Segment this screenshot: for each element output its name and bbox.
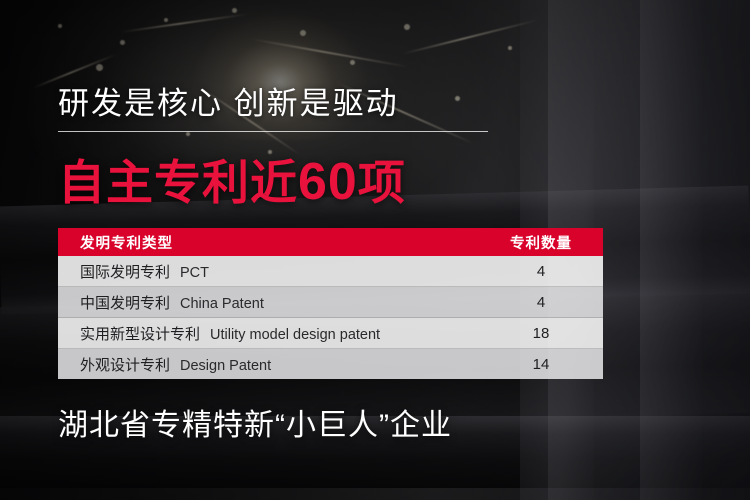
footer-tagline: 湖北省专精特新“小巨人”企业 [58,400,452,444]
headline-main: 自主专利近60项 [58,144,406,213]
table-header-row: 发明专利类型 专利数量 [58,228,603,256]
poster-canvas: 研发是核心 创新是驱动 自主专利近60项 发明专利类型 专利数量 国际发明专利P… [0,0,750,500]
table-cell-count: 4 [479,294,603,311]
table-row: 外观设计专利Design Patent 14 [58,349,603,379]
table-cell-count: 4 [479,263,603,280]
table-cell-category-cn: 中国发明专利 [80,295,170,312]
table-cell-category-en: Utility model design patent [200,327,380,343]
table-row: 中国发明专利China Patent 4 [58,287,603,318]
table-cell-category-en: PCT [170,265,209,281]
poster-content: 研发是核心 创新是驱动 自主专利近60项 发明专利类型 专利数量 国际发明专利P… [0,0,750,500]
headline-divider [58,131,488,132]
headline-main-number: 60 [298,153,358,211]
headline-subtitle: 研发是核心 创新是驱动 [58,78,399,123]
patent-table: 发明专利类型 专利数量 国际发明专利PCT 4 中国发明专利China Pate… [58,228,603,379]
table-cell-count: 14 [479,356,603,373]
table-cell-category-en: China Patent [170,296,264,312]
table-cell-category: 外观设计专利Design Patent [58,354,479,375]
table-cell-category: 国际发明专利PCT [58,261,479,282]
headline-main-suffix: 项 [358,156,406,209]
table-cell-count: 18 [479,325,603,342]
table-cell-category-cn: 国际发明专利 [80,264,170,281]
table-header-category: 发明专利类型 [58,232,479,253]
table-cell-category-en: Design Patent [170,358,271,374]
table-cell-category: 中国发明专利China Patent [58,292,479,313]
table-cell-category: 实用新型设计专利Utility model design patent [58,323,479,344]
table-header-count: 专利数量 [479,232,603,253]
table-cell-category-cn: 外观设计专利 [80,357,170,374]
table-row: 国际发明专利PCT 4 [58,256,603,287]
headline-main-text: 自主专利近 [58,156,298,209]
table-cell-category-cn: 实用新型设计专利 [80,326,200,343]
table-row: 实用新型设计专利Utility model design patent 18 [58,318,603,349]
